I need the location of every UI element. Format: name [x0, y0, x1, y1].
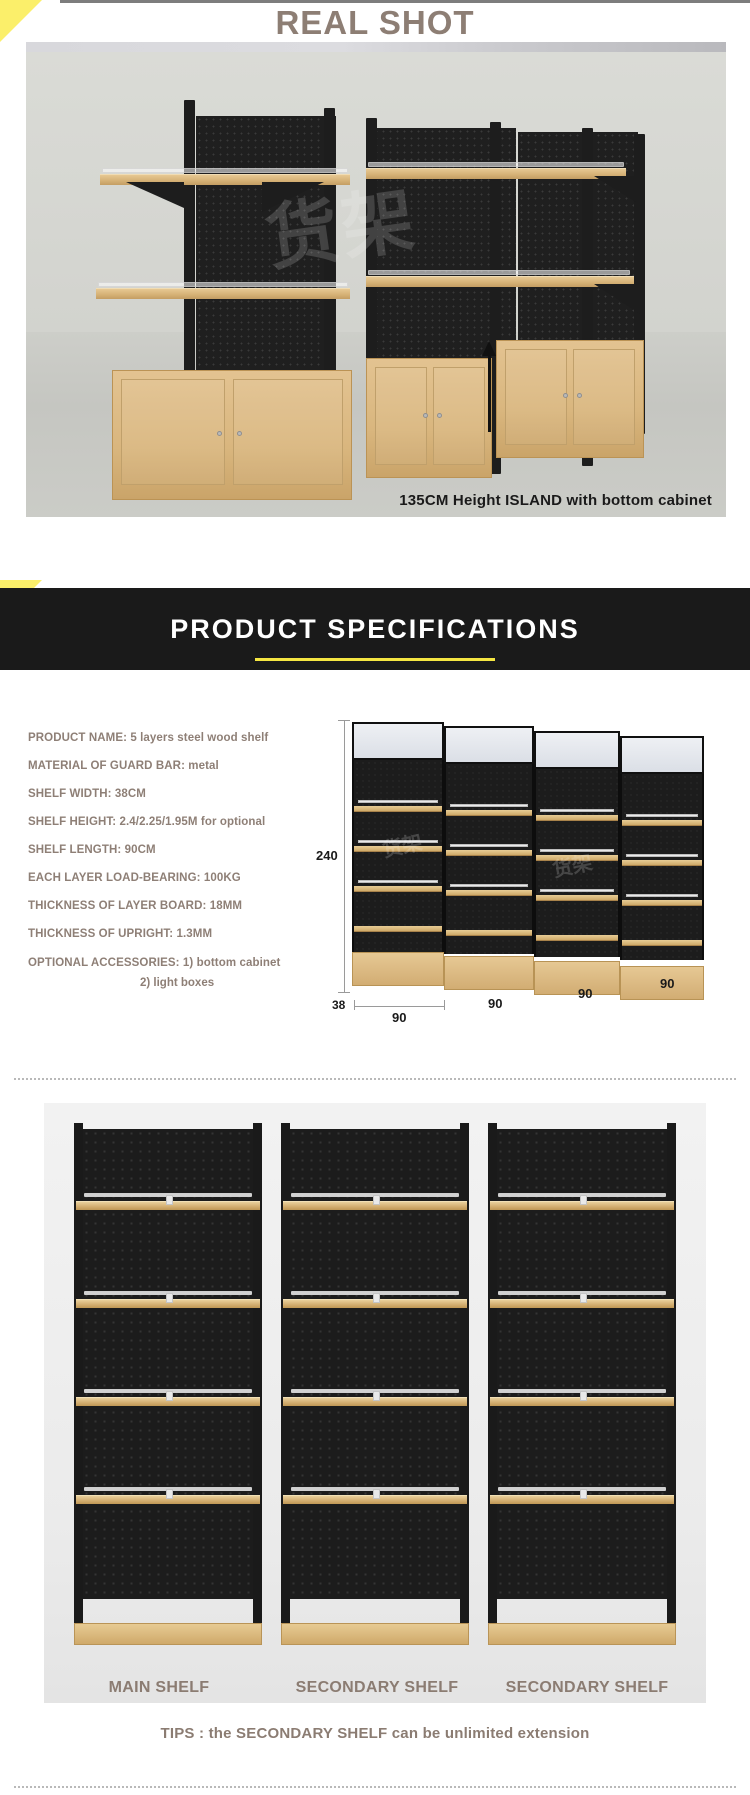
top-hairline-divider	[60, 0, 750, 3]
drawing-guard-bar	[540, 889, 614, 892]
drawing-shelf	[536, 815, 618, 821]
drawing-guard-bar	[540, 809, 614, 812]
dimension-tick	[338, 720, 350, 721]
cabinet-door	[375, 367, 427, 465]
drawing-shelf	[622, 940, 702, 946]
drawing-shelf	[536, 895, 618, 901]
shelf-unit-secondary-1	[277, 1129, 473, 1641]
spec-line: THICKNESS OF LAYER BOARD: 18MM	[28, 900, 333, 912]
upright-post	[667, 1123, 676, 1623]
drawing-guard-bar	[358, 800, 438, 803]
shelf-clip	[580, 1391, 587, 1401]
upright-post	[281, 1123, 290, 1623]
drawing-shelf	[446, 850, 532, 856]
drawing-shelf	[354, 846, 442, 852]
spec-line: EACH LAYER LOAD-BEARING: 100KG	[28, 872, 333, 884]
section-divider-bottom	[14, 1786, 736, 1788]
spec-line: MATERIAL OF GUARD BAR: metal	[28, 760, 333, 772]
light-box	[534, 731, 620, 769]
banner-title: PRODUCT SPECIFICATIONS	[170, 614, 580, 645]
annotation-arrow-icon	[488, 354, 491, 432]
spec-line: OPTIONAL ACCESSORIES: 1) bottom cabinet	[28, 957, 333, 969]
rack-bay	[352, 760, 444, 952]
shelf-clip	[580, 1195, 587, 1205]
specifications-section: PRODUCT NAME: 5 layers steel wood shelf …	[0, 670, 750, 1070]
shelf-types-photo: MAIN SHELF SECONDARY SHELF SECONDARY SHE…	[44, 1103, 706, 1703]
cabinet-door	[573, 349, 635, 445]
drawing-guard-bar	[540, 849, 614, 852]
light-box	[444, 726, 534, 764]
shelf-clip	[166, 1489, 173, 1499]
bottom-cabinet	[366, 358, 492, 478]
spec-line: THICKNESS OF UPRIGHT: 1.3MM	[28, 928, 333, 940]
cabinet-knob-icon	[423, 413, 428, 418]
upright-post	[74, 1123, 83, 1623]
cabinet-door	[233, 379, 343, 485]
real-shot-photo-caption: 135CM Height ISLAND with bottom cabinet	[26, 492, 712, 509]
drawing-shelf	[536, 935, 618, 941]
drawing-guard-bar	[358, 840, 438, 843]
shelf-unit-label: MAIN SHELF	[44, 1679, 274, 1697]
dimension-line-height	[344, 720, 345, 992]
banner-underline-accent	[255, 658, 495, 661]
shelf-clip	[166, 1293, 173, 1303]
wood-shelf	[96, 288, 350, 299]
shelf-base	[74, 1623, 262, 1645]
shelf-clip	[373, 1391, 380, 1401]
shelf-guard-bar	[368, 162, 624, 167]
shelf-unit-label: SECONDARY SHELF	[472, 1679, 702, 1697]
product-specifications-banner: PRODUCT SPECIFICATIONS	[0, 580, 750, 670]
rack-illustration: 货架 货架	[352, 720, 707, 990]
dimension-label-height: 240	[316, 848, 338, 863]
drawing-shelf	[622, 900, 702, 906]
shelf-clip	[373, 1293, 380, 1303]
cabinet-door	[505, 349, 567, 445]
dimension-label-width: 90	[660, 976, 674, 991]
island-shelf-rig	[66, 70, 686, 500]
dimension-label-width: 90	[578, 986, 592, 1001]
dimension-line-width	[354, 1006, 444, 1007]
real-shot-photo: 货架 135CM Height ISLAND with bottom cabin…	[26, 52, 726, 517]
wood-shelf	[366, 168, 626, 179]
shelf-clip	[373, 1195, 380, 1205]
drawing-guard-bar	[450, 884, 528, 887]
pegboard-panel	[196, 116, 336, 371]
drawing-guard-bar	[626, 854, 698, 857]
rack-bay	[620, 774, 704, 960]
spec-line: SHELF LENGTH: 90CM	[28, 844, 333, 856]
real-shot-title: REAL SHOT	[0, 4, 750, 42]
drawing-guard-bar	[450, 804, 528, 807]
cabinet-knob-icon	[563, 393, 568, 398]
drawing-base-cabinet	[352, 952, 444, 986]
upright-post	[253, 1123, 262, 1623]
drawing-base-cabinet	[444, 956, 534, 990]
wood-shelf	[366, 276, 634, 287]
drawing-shelf	[354, 926, 442, 932]
shelf-guard-bar	[102, 168, 348, 173]
shelf-clip	[166, 1195, 173, 1205]
cabinet-knob-icon	[237, 431, 242, 436]
shelf-base	[281, 1623, 469, 1645]
real-shot-section: REAL SHOT	[0, 0, 750, 580]
dimension-label-depth: 38	[332, 998, 345, 1012]
drawing-shelf	[536, 855, 618, 861]
cabinet-knob-icon	[217, 431, 222, 436]
upright-post	[460, 1123, 469, 1623]
tips-text: TIPS : the SECONDARY SHELF can be unlimi…	[0, 1725, 750, 1742]
section-divider-top	[14, 1078, 736, 1080]
upright-post	[488, 1123, 497, 1623]
dimension-label-width: 90	[392, 1010, 406, 1025]
drawing-guard-bar	[450, 844, 528, 847]
shelf-unit-label: SECONDARY SHELF	[262, 1679, 492, 1697]
shelf-bracket	[126, 182, 184, 208]
drawing-shelf	[446, 930, 532, 936]
shelf-unit-secondary-2	[484, 1129, 680, 1641]
spec-line: SHELF HEIGHT: 2.4/2.25/1.95M for optiona…	[28, 816, 333, 828]
shelf-types-section: MAIN SHELF SECONDARY SHELF SECONDARY SHE…	[0, 1085, 750, 1795]
shelf-guard-bar	[98, 282, 348, 287]
bottom-cabinet	[112, 370, 352, 500]
drawing-shelf	[354, 886, 442, 892]
shelf-guard-bar	[368, 270, 630, 275]
drawing-shelf	[622, 820, 702, 826]
dimension-tick	[338, 992, 350, 993]
shelf-base	[488, 1623, 676, 1645]
drawing-guard-bar	[626, 894, 698, 897]
rack-bay	[534, 769, 620, 957]
shelf-clip	[580, 1293, 587, 1303]
spec-accessory-second: 2) light boxes	[140, 977, 333, 989]
drawing-guard-bar	[626, 814, 698, 817]
rack-bay	[444, 764, 534, 954]
light-box	[352, 722, 444, 760]
cabinet-knob-icon	[577, 393, 582, 398]
drawing-shelf	[446, 890, 532, 896]
shelf-unit-main	[70, 1129, 266, 1641]
shelf-clip	[373, 1489, 380, 1499]
shelf-clip	[166, 1391, 173, 1401]
cabinet-door	[121, 379, 225, 485]
spec-line: PRODUCT NAME: 5 layers steel wood shelf	[28, 732, 333, 744]
shelf-clip	[580, 1489, 587, 1499]
light-box	[620, 736, 704, 774]
cabinet-knob-icon	[437, 413, 442, 418]
drawing-shelf	[354, 806, 442, 812]
dimension-tick	[444, 1000, 445, 1010]
spec-line: SHELF WIDTH: 38CM	[28, 788, 333, 800]
drawing-shelf	[622, 860, 702, 866]
drawing-shelf	[446, 810, 532, 816]
shelf-technical-drawing: 货架 货架 240 38 90 90 90 90	[330, 710, 730, 1040]
bottom-cabinet	[496, 340, 644, 458]
dimension-label-width: 90	[488, 996, 502, 1011]
dimension-tick	[354, 1000, 355, 1010]
drawing-base-cabinet	[534, 961, 620, 995]
specifications-list: PRODUCT NAME: 5 layers steel wood shelf …	[28, 732, 333, 989]
drawing-guard-bar	[358, 880, 438, 883]
